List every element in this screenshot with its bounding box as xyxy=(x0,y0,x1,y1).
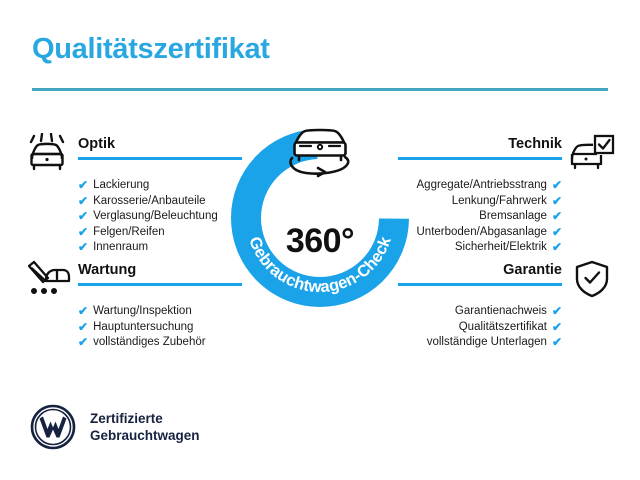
check-icon: ✔ xyxy=(552,178,562,194)
section-title-optik: Optik xyxy=(78,135,242,153)
checklist-technik: Aggregate/Antriebsstrang ✔ Lenkung/Fahrw… xyxy=(398,178,562,256)
section-title-garantie: Garantie xyxy=(398,261,562,279)
car-front-rotate-icon xyxy=(278,118,362,180)
check-icon: ✔ xyxy=(552,209,562,225)
list-item-label: Verglasung/Beleuchtung xyxy=(93,209,218,225)
checklist-garantie: Garantienachweis ✔ Qualitätszertifikat ✔… xyxy=(398,304,562,351)
list-item: ✔ Lackierung xyxy=(78,178,242,194)
list-item-label: Karosserie/Anbauteile xyxy=(93,194,206,210)
section-header-garantie: Garantie xyxy=(398,258,618,304)
check-icon: ✔ xyxy=(78,225,88,241)
check-icon: ✔ xyxy=(552,335,562,351)
check-icon: ✔ xyxy=(78,320,88,336)
section-header-optik: Optik xyxy=(22,132,242,178)
section-title-wrap-optik: Optik xyxy=(78,135,242,171)
list-item-label: vollständiges Zubehör xyxy=(93,335,206,351)
check-icon: ✔ xyxy=(78,209,88,225)
check-icon: ✔ xyxy=(78,194,88,210)
car-shine-icon xyxy=(22,132,74,174)
check-icon: ✔ xyxy=(552,320,562,336)
badge-360-gebrauchtwagen-check: Gebrauchtwagen-Check 360° xyxy=(228,118,412,308)
badge-degrees: 360° xyxy=(228,222,412,261)
check-icon: ✔ xyxy=(78,178,88,194)
section-optik: Optik ✔ Lackierung ✔ Karosserie/Anbautei… xyxy=(22,132,242,256)
section-wartung: Wartung ✔ Wartung/Inspektion ✔ Hauptunte… xyxy=(22,258,242,351)
check-icon: ✔ xyxy=(552,225,562,241)
list-item-label: Qualitätszertifikat xyxy=(459,320,547,336)
list-item: Aggregate/Antriebsstrang ✔ xyxy=(398,178,562,194)
section-underline-garantie xyxy=(398,283,562,286)
section-technik: Technik Aggregate/Antriebsstrang ✔ Lenku… xyxy=(398,132,618,256)
section-title-wrap-technik: Technik xyxy=(398,135,562,171)
check-icon: ✔ xyxy=(552,194,562,210)
list-item-label: Hauptuntersuchung xyxy=(93,320,193,336)
section-title-wrap-garantie: Garantie xyxy=(398,261,562,297)
list-item-label: Sicherheit/Elektrik xyxy=(455,240,547,256)
section-title-wartung: Wartung xyxy=(78,261,242,279)
check-icon: ✔ xyxy=(552,304,562,320)
list-item: ✔ Innenraum xyxy=(78,240,242,256)
check-icon: ✔ xyxy=(78,240,88,256)
section-header-wartung: Wartung xyxy=(22,258,242,304)
list-item-label: vollständige Unterlagen xyxy=(427,335,547,351)
list-item: Bremsanlage ✔ xyxy=(398,209,562,225)
section-title-technik: Technik xyxy=(398,135,562,153)
list-item-label: Lackierung xyxy=(93,178,149,194)
car-checkbox-icon xyxy=(566,132,618,174)
wrench-car-icon xyxy=(22,258,74,300)
list-item: vollständige Unterlagen ✔ xyxy=(398,335,562,351)
list-item-label: Innenraum xyxy=(93,240,148,256)
footer-line-1: Zertifizierte xyxy=(90,410,200,427)
list-item: ✔ Wartung/Inspektion xyxy=(78,304,242,320)
page-title: Qualitätszertifikat xyxy=(32,33,270,66)
section-title-wrap-wartung: Wartung xyxy=(78,261,242,297)
footer-line-2: Gebrauchtwagen xyxy=(90,427,200,444)
list-item: ✔ vollständiges Zubehör xyxy=(78,335,242,351)
list-item-label: Felgen/Reifen xyxy=(93,225,165,241)
list-item: ✔ Felgen/Reifen xyxy=(78,225,242,241)
list-item-label: Bremsanlage xyxy=(479,209,547,225)
title-divider xyxy=(32,88,608,91)
section-garantie: Garantie Garantienachweis ✔ Qualitätszer… xyxy=(398,258,618,351)
checklist-optik: ✔ Lackierung ✔ Karosserie/Anbauteile ✔ V… xyxy=(78,178,242,256)
list-item-label: Garantienachweis xyxy=(455,304,547,320)
footer-brand: Zertifizierte Gebrauchtwagen xyxy=(30,404,200,450)
list-item: Lenkung/Fahrwerk ✔ xyxy=(398,194,562,210)
list-item: ✔ Hauptuntersuchung xyxy=(78,320,242,336)
list-item: Garantienachweis ✔ xyxy=(398,304,562,320)
list-item: ✔ Verglasung/Beleuchtung xyxy=(78,209,242,225)
list-item: ✔ Karosserie/Anbauteile xyxy=(78,194,242,210)
certificate-page: Qualitätszertifikat xyxy=(0,0,640,480)
checklist-wartung: ✔ Wartung/Inspektion ✔ Hauptuntersuchung… xyxy=(78,304,242,351)
list-item-label: Wartung/Inspektion xyxy=(93,304,192,320)
vw-logo xyxy=(30,404,76,450)
section-header-technik: Technik xyxy=(398,132,618,178)
section-underline-wartung xyxy=(78,283,242,286)
section-underline-optik xyxy=(78,157,242,160)
list-item: Unterboden/Abgasanlage ✔ xyxy=(398,225,562,241)
section-underline-technik xyxy=(398,157,562,160)
list-item-label: Aggregate/Antriebsstrang xyxy=(417,178,547,194)
list-item-label: Unterboden/Abgasanlage xyxy=(417,225,547,241)
check-icon: ✔ xyxy=(78,304,88,320)
list-item-label: Lenkung/Fahrwerk xyxy=(452,194,547,210)
check-icon: ✔ xyxy=(552,240,562,256)
footer-text: Zertifizierte Gebrauchtwagen xyxy=(90,410,200,444)
shield-check-icon xyxy=(566,258,618,300)
check-icon: ✔ xyxy=(78,335,88,351)
list-item: Sicherheit/Elektrik ✔ xyxy=(398,240,562,256)
list-item: Qualitätszertifikat ✔ xyxy=(398,320,562,336)
